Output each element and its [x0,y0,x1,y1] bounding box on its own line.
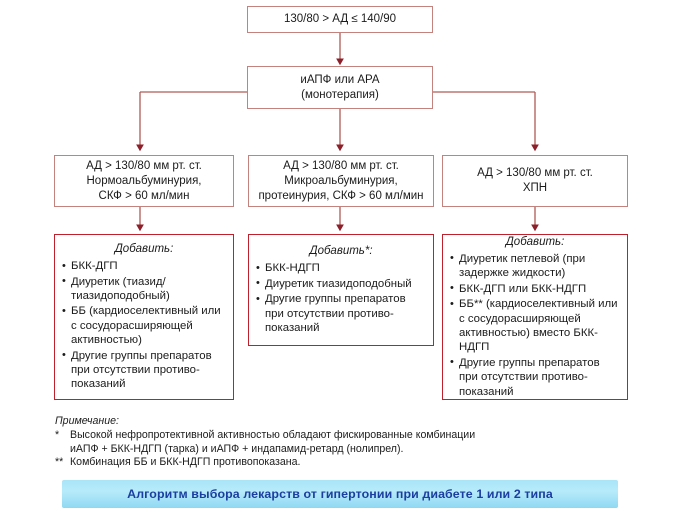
node-blood-pressure-threshold: 130/80 > АД ≤ 140/90 [247,6,433,33]
node-line: АД > 130/80 мм рт. ст. [249,159,433,174]
treatment-title: Добавить: [62,242,226,256]
node-monotherapy: иАПФ или АРА (монотерапия) [247,66,433,109]
list-item: ББ** (кардиоселективный или с сосудорасш… [450,297,620,355]
node-condition-chronic-renal-failure: АД > 130/80 мм рт. ст. ХПН [442,155,628,207]
node-treatment-microalbuminuria: Добавить*: БКК-НДГП Диуретик тиазидоподо… [248,234,434,346]
node-line: иАПФ или АРА [248,73,432,88]
node-treatment-chronic-renal-failure: Добавить: Диуретик петлевой (при задержк… [442,234,628,400]
node-line: (монотерапия) [248,88,432,103]
note-body: Комбинация ББ и БКК-НДГП противопоказана… [70,456,655,470]
caption-banner: Алгоритм выбора лекарств от гипертонии п… [62,480,618,508]
treatment-list: БКК-ДГП Диуретик (тиазид/ тиазидоподобны… [62,259,226,392]
treatment-content: Добавить*: БКК-НДГП Диуретик тиазидоподо… [249,238,433,341]
list-item: Диуретик петлевой (при задержке жидкости… [450,252,620,281]
treatment-title: Добавить: [450,235,620,249]
treatment-content: Добавить: БКК-ДГП Диуретик (тиазид/ тиаз… [55,236,233,398]
note-marker: * [55,429,70,456]
node-condition-microalbuminuria: АД > 130/80 мм рт. ст. Микроальбуминурия… [248,155,434,207]
treatment-algorithm-flowchart: 130/80 > АД ≤ 140/90 иАПФ или АРА (монот… [0,0,680,516]
node-line: Нормоальбуминурия, [55,174,233,189]
list-item: Диуретик (тиазид/ тиазидоподобный) [62,275,226,304]
node-line: ХПН [443,181,627,196]
node-treatment-normoalbuminuria: Добавить: БКК-ДГП Диуретик (тиазид/ тиаз… [54,234,234,400]
node-condition-normoalbuminuria: АД > 130/80 мм рт. ст. Нормоальбуминурия… [54,155,234,207]
treatment-list: БКК-НДГП Диуретик тиазидоподобный Другие… [256,261,426,335]
list-item: Другие группы препаратов при отсутствии … [62,349,226,392]
caption-text: Алгоритм выбора лекарств от гипертонии п… [127,487,553,501]
note-item: ** Комбинация ББ и БКК-НДГП противопоказ… [55,456,655,470]
node-line: протеинурия, СКФ > 60 мл/мин [249,189,433,204]
treatment-list: Диуретик петлевой (при задержке жидкости… [450,252,620,399]
notes-section: Примечание: * Высокой нефропротективной … [55,414,655,470]
node-line: 130/80 > АД ≤ 140/90 [248,12,432,27]
note-marker: ** [55,456,70,470]
list-item: БКК-НДГП [256,261,426,275]
list-item: ББ (кардиоселективный или с сосудорасшир… [62,304,226,347]
list-item: Диуретик тиазидоподобный [256,277,426,291]
node-line: Микроальбуминурия, [249,174,433,189]
note-text-continued: иАПФ + БКК-НДГП (тарка) и иАПФ + индапам… [70,443,655,457]
list-item: БКК-ДГП [62,259,226,273]
notes-title: Примечание: [55,414,655,428]
list-item: Другие группы препаратов при отсутствии … [450,356,620,399]
note-text: Высокой нефропротективной активностью об… [70,429,475,441]
node-line: АД > 130/80 мм рт. ст. [443,166,627,181]
list-item: Другие группы препаратов при отсутствии … [256,292,426,335]
treatment-title: Добавить*: [256,244,426,258]
node-line: АД > 130/80 мм рт. ст. [55,159,233,174]
list-item: БКК-ДГП или БКК-НДГП [450,282,620,296]
note-text: Комбинация ББ и БКК-НДГП противопоказана… [70,456,300,468]
treatment-content: Добавить: Диуретик петлевой (при задержк… [443,229,627,405]
note-body: Высокой нефропротективной активностью об… [70,429,655,456]
note-item: * Высокой нефропротективной активностью … [55,429,655,456]
node-line: СКФ > 60 мл/мин [55,189,233,204]
